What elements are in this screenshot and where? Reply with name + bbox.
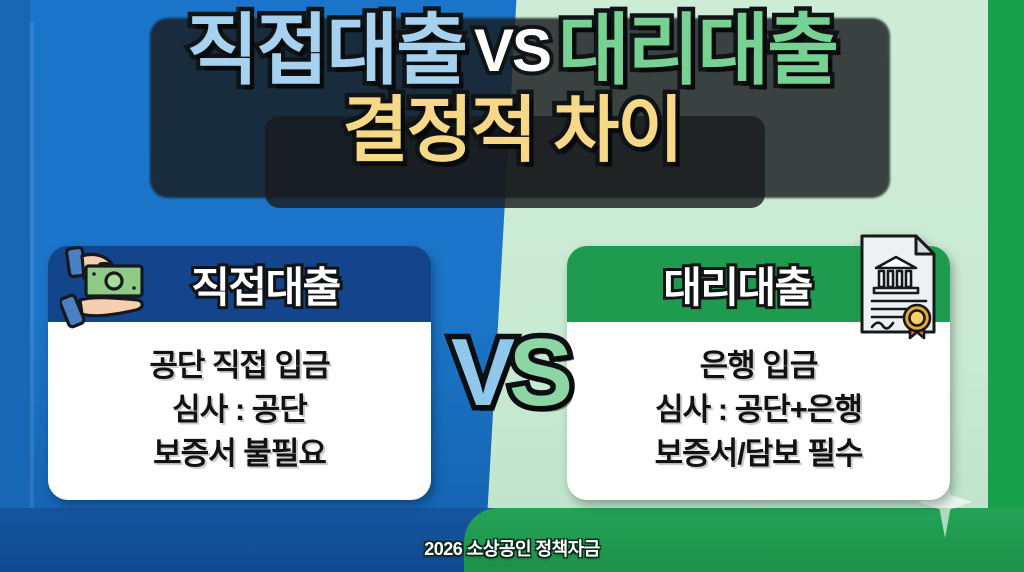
background-right-edge bbox=[988, 0, 1024, 572]
card-agency-loan-line-3: 보증서/담보 필수 bbox=[577, 432, 940, 476]
card-direct-loan[interactable]: 직접대출 공단 직접 입금 심사 : 공단 보증서 불필요 bbox=[48, 246, 431, 500]
background-left-inset-line bbox=[30, 22, 34, 550]
card-agency-loan-body: 은행 입금 심사 : 공단+은행 보증서/담보 필수 bbox=[567, 322, 950, 500]
card-direct-loan-line-2: 심사 : 공단 bbox=[58, 388, 421, 432]
card-agency-loan-line-1: 은행 입금 bbox=[577, 344, 940, 388]
headline-backdrop-second-line bbox=[265, 116, 765, 208]
card-agency-loan[interactable]: 대리대출 bbox=[567, 246, 950, 500]
certificate-document-icon bbox=[854, 228, 944, 340]
card-direct-loan-line-3: 보증서 불필요 bbox=[58, 432, 421, 476]
card-agency-loan-title: 대리대출 bbox=[663, 254, 812, 315]
background-left-edge bbox=[0, 0, 30, 572]
card-agency-loan-line-2: 심사 : 공단+은행 bbox=[577, 388, 940, 432]
poster-canvas: 직접대출VS대리대출 결정적 차이 bbox=[0, 0, 1024, 572]
card-direct-loan-header: 직접대출 bbox=[48, 246, 431, 322]
card-direct-loan-line-1: 공단 직접 입금 bbox=[58, 344, 421, 388]
card-direct-loan-title: 직접대출 bbox=[191, 254, 340, 315]
money-in-hands-icon bbox=[60, 234, 156, 334]
card-agency-loan-header: 대리대출 bbox=[567, 246, 950, 322]
footer-caption: 2026 소상공인 정책자금 bbox=[0, 535, 1024, 561]
card-direct-loan-body: 공단 직접 입금 심사 : 공단 보증서 불필요 bbox=[48, 322, 431, 500]
